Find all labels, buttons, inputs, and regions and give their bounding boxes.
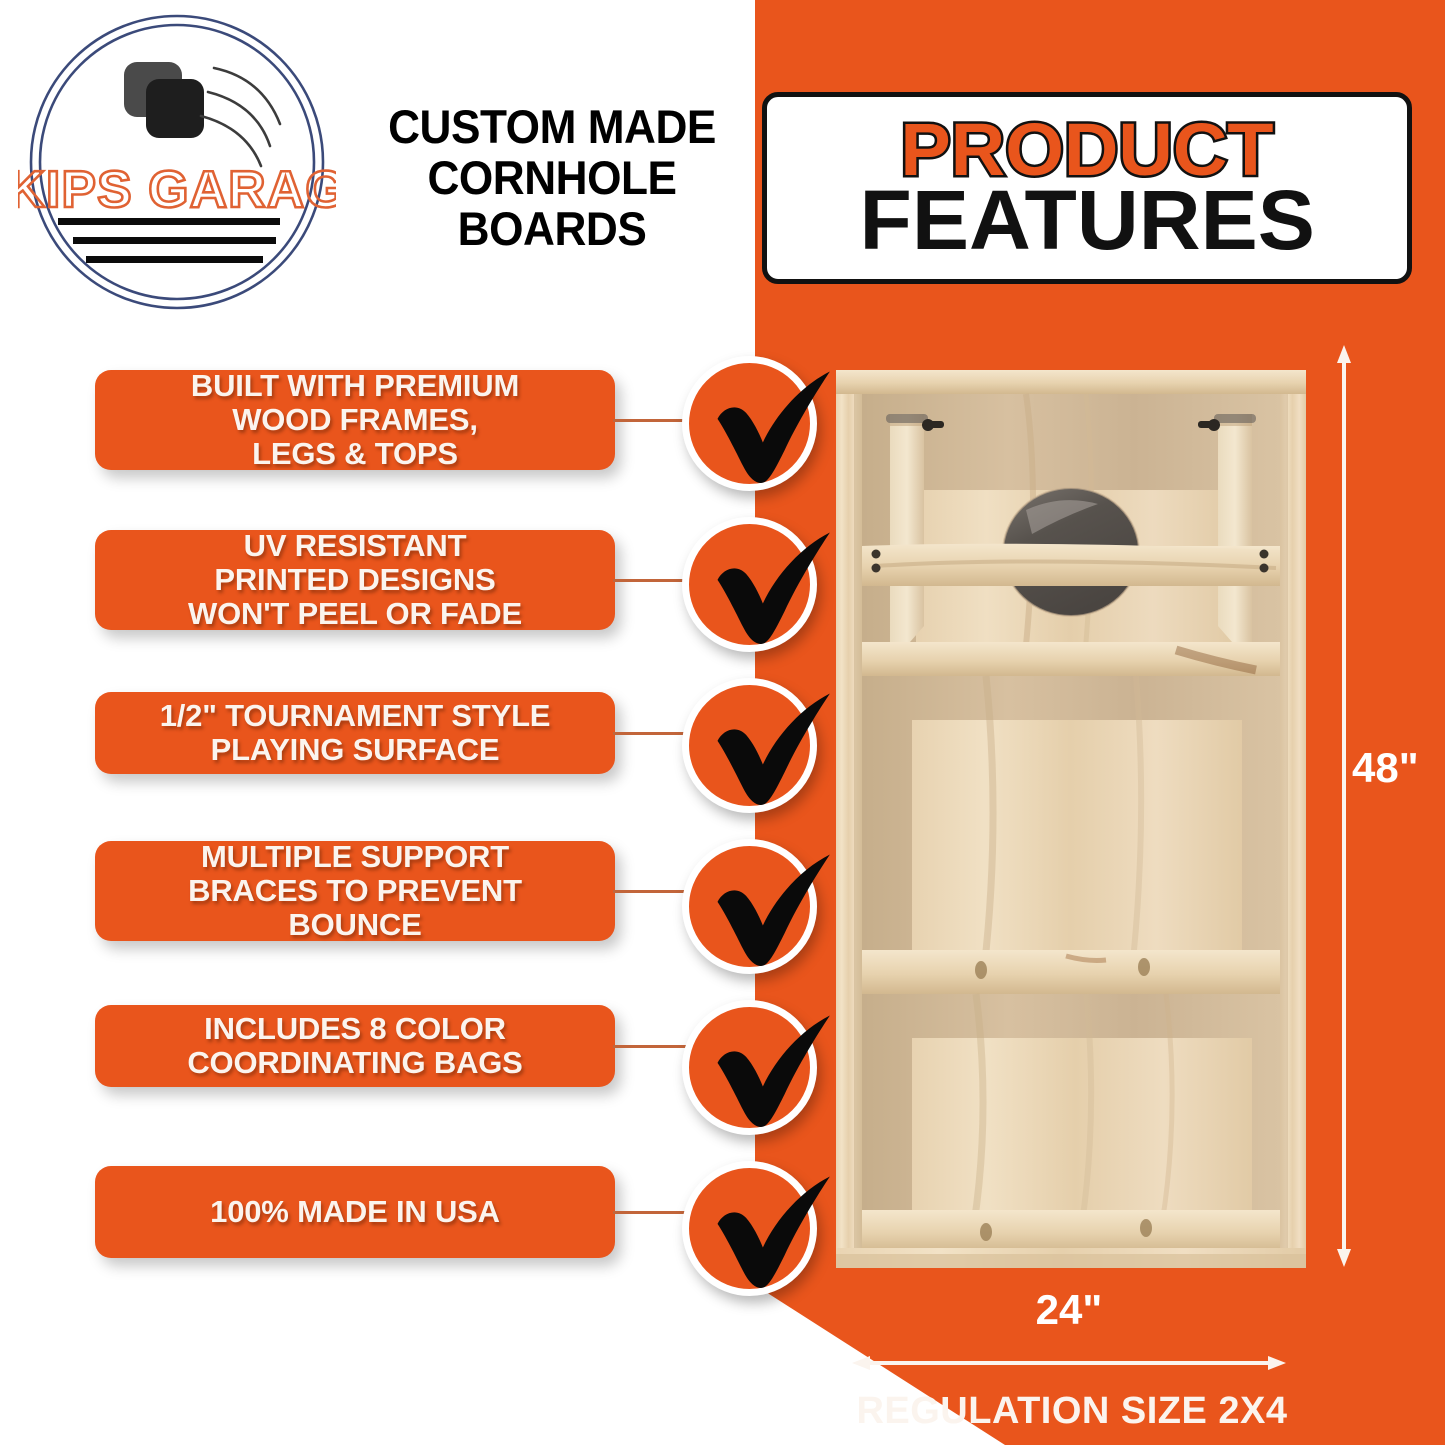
feature-label: 1/2" TOURNAMENT STYLE PLAYING SURFACE (160, 699, 551, 767)
feature-label: 100% MADE IN USA (210, 1195, 500, 1229)
feature-check-badge[interactable] (682, 678, 817, 813)
checkmark-icon (678, 344, 828, 494)
bottom-rail (862, 1210, 1280, 1252)
feature-label: MULTIPLE SUPPORT BRACES TO PREVENT BOUNC… (188, 840, 522, 942)
product-features-banner: PRODUCT FEATURES (762, 92, 1412, 284)
feature-pill[interactable]: UV RESISTANT PRINTED DESIGNS WON'T PEEL … (95, 530, 615, 630)
feature-pill[interactable]: MULTIPLE SUPPORT BRACES TO PREVENT BOUNC… (95, 841, 615, 941)
height-dimension-arrow (1337, 345, 1351, 1267)
feature-check-badge[interactable] (682, 839, 817, 974)
checkmark-icon (678, 1149, 828, 1299)
logo-wordmark: SKIPS GARAGE (18, 161, 336, 219)
checkmark-icon (678, 505, 828, 655)
feature-check-badge[interactable] (682, 517, 817, 652)
checkmark-icon (678, 988, 828, 1138)
feature-check-badge[interactable] (682, 1161, 817, 1296)
feature-pill[interactable]: INCLUDES 8 COLOR COORDINATING BAGS (95, 1005, 615, 1087)
page-title: CUSTOM MADE CORNHOLE BOARDS (364, 102, 740, 254)
feature-check-badge[interactable] (682, 356, 817, 491)
brand-logo: SKIPS GARAGE (18, 12, 336, 312)
product-photo (836, 370, 1306, 1268)
infographic-canvas: SKIPS GARAGE CUSTOM MADE CORNHOLE BOARDS… (0, 0, 1445, 1445)
feature-pill[interactable]: 100% MADE IN USA (95, 1166, 615, 1258)
height-label: 48" (1352, 744, 1419, 792)
width-label: 24" (852, 1286, 1286, 1334)
checkmark-icon (678, 666, 828, 816)
feature-pill[interactable]: BUILT WITH PREMIUM WOOD FRAMES, LEGS & T… (95, 370, 615, 470)
support-brace-upper (862, 544, 1280, 586)
feature-check-badge[interactable] (682, 1000, 817, 1135)
support-brace-lower (862, 950, 1280, 994)
support-brace-middle (862, 642, 1280, 676)
headline-line-2: CORNHOLE (364, 153, 740, 204)
feature-label: INCLUDES 8 COLOR COORDINATING BAGS (187, 1012, 522, 1080)
headline-line-1: CUSTOM MADE (364, 102, 740, 153)
width-dimension-arrow (852, 1355, 1286, 1371)
feature-label: UV RESISTANT PRINTED DESIGNS WON'T PEEL … (188, 529, 522, 631)
feature-pill[interactable]: 1/2" TOURNAMENT STYLE PLAYING SURFACE (95, 692, 615, 774)
banner-title-features: FEATURES (859, 181, 1314, 261)
checkmark-icon (678, 827, 828, 977)
regulation-note: REGULATION SIZE 2X4 (812, 1390, 1332, 1433)
headline-line-3: BOARDS (364, 204, 740, 255)
feature-label: BUILT WITH PREMIUM WOOD FRAMES, LEGS & T… (191, 369, 519, 471)
